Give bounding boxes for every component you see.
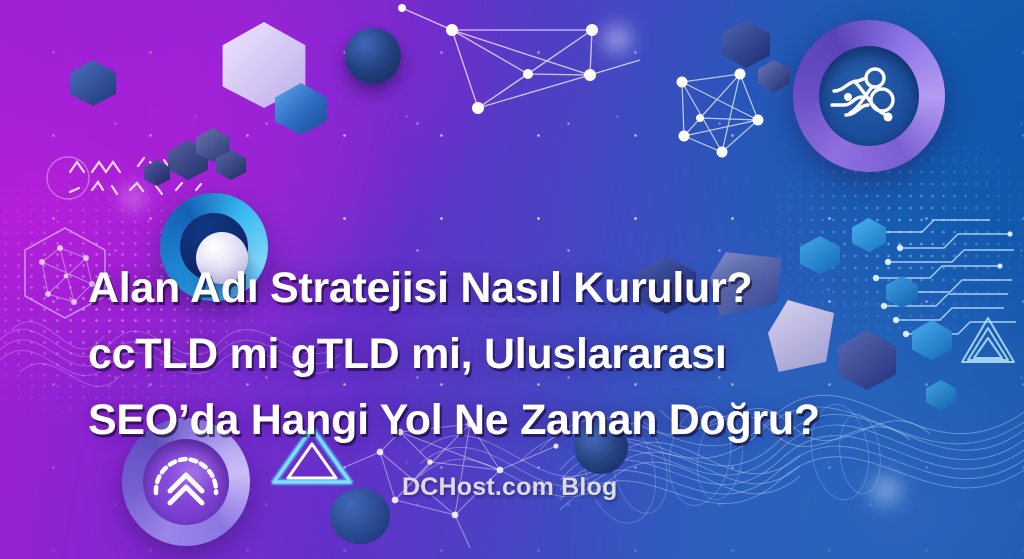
headline-line-2: ccTLD mi gTLD mi, Uluslararası	[88, 321, 968, 387]
banner-content: Alan Adı Stratejisi Nasıl Kurulur? ccTLD…	[0, 0, 1024, 559]
page-title: Alan Adı Stratejisi Nasıl Kurulur? ccTLD…	[88, 255, 968, 453]
blog-cover-banner: Alan Adı Stratejisi Nasıl Kurulur? ccTLD…	[0, 0, 1024, 559]
brand-label: DCHost.com Blog	[402, 473, 618, 502]
headline-line-1: Alan Adı Stratejisi Nasıl Kurulur?	[88, 255, 968, 321]
headline-line-3: SEO’da Hangi Yol Ne Zaman Doğru?	[88, 387, 968, 453]
